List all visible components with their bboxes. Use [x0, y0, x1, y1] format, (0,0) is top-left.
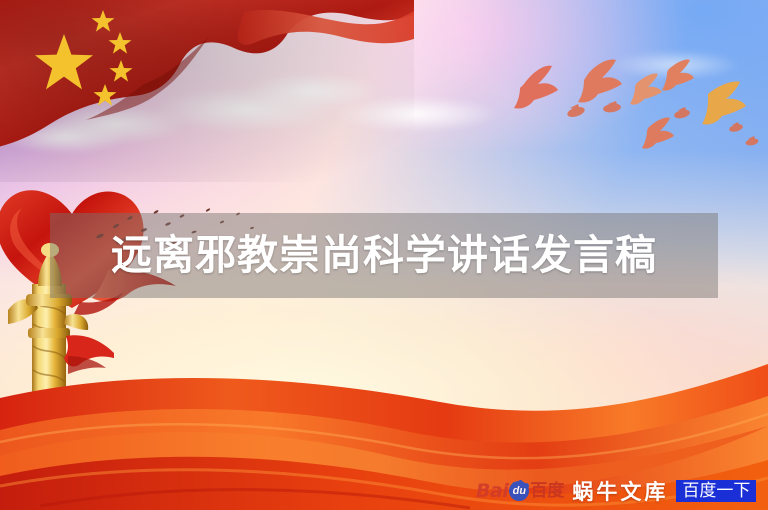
flying-doves — [490, 50, 768, 170]
baidu-chinese-text: 百度 — [530, 483, 564, 500]
baidu-search-button[interactable]: 百度一下 — [676, 480, 756, 502]
page-title: 远离邪教崇尚科学讲话发言稿 — [111, 235, 657, 276]
site-name-label: 蜗牛文库 — [572, 481, 668, 502]
baidu-paw-icon: du — [509, 481, 529, 501]
poster-canvas: 远离邪教崇尚科学讲话发言稿 Bai du 百度 蜗牛文库 百度一下 — [0, 0, 768, 510]
watermark-bar: Bai du 百度 蜗牛文库 百度一下 — [476, 476, 764, 506]
baidu-latin-text: Bai — [476, 482, 508, 501]
title-overlay-band: 远离邪教崇尚科学讲话发言稿 — [50, 213, 718, 298]
baidu-logo[interactable]: Bai du 百度 — [476, 480, 564, 502]
